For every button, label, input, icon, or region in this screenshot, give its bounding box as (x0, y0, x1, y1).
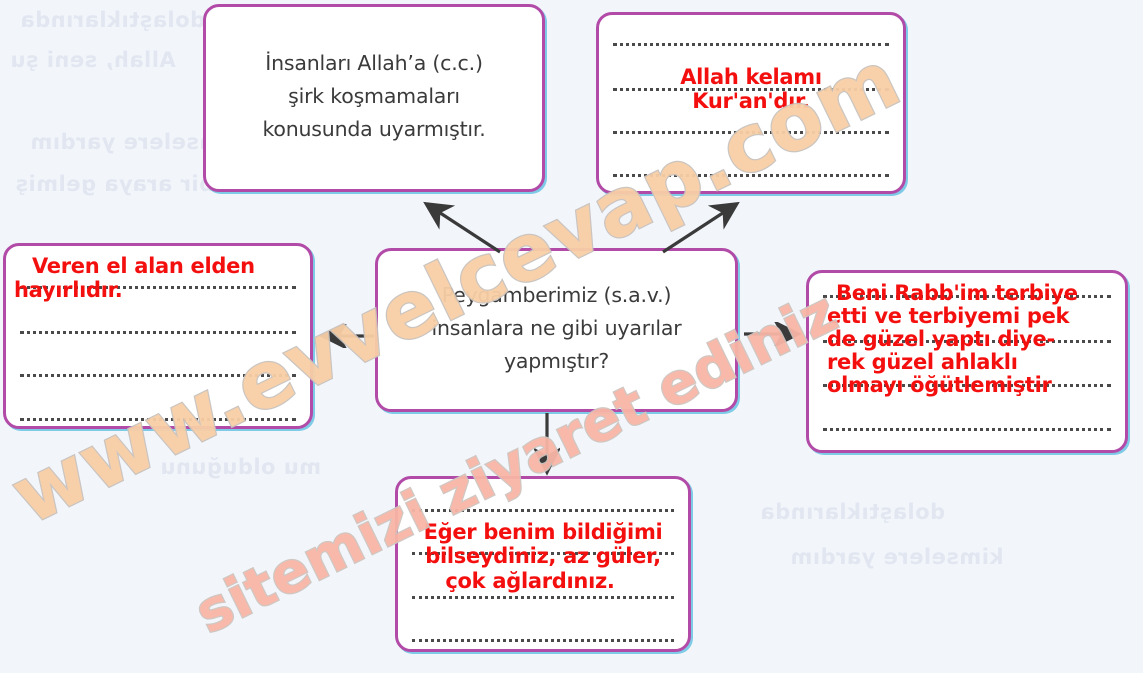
center-question-text: Peygamberimiz (s.a.v.) insanlara ne gibi… (378, 251, 735, 379)
writing-line (412, 596, 674, 599)
answer-box-top-right[interactable]: Allah kelamı Kur'an'dır. (596, 12, 906, 194)
question-line-1: Peygamberimiz (s.a.v.) (378, 279, 735, 312)
answer-line-4: rek güzel ahlaklı (827, 351, 1078, 374)
answer-line-1: Eğer benim bildiğimi (398, 520, 688, 544)
top-right-box-answer: Allah kelamı Kur'an'dır. (599, 65, 903, 114)
writing-line (20, 374, 296, 377)
question-line-2: insanlara ne gibi uyarılar (378, 312, 735, 345)
answer-box-left[interactable]: Veren el alan elden hayırlıdır. (3, 243, 313, 429)
answer-line-3: çok ağlardınız. (395, 569, 688, 593)
bottom-box-answer: Eğer benim bildiğimi bilseydiniz, az gül… (398, 520, 688, 593)
answer-line-1: Allah kelamı (599, 65, 903, 89)
writing-line (20, 331, 296, 334)
writing-line (823, 428, 1111, 431)
writing-line (412, 509, 674, 512)
bleed-text: mu olduğunu (160, 455, 321, 479)
answer-box-top[interactable]: İnsanları Allah’a (c.c.) şirk koşmamalar… (203, 4, 545, 192)
answer-box-right[interactable]: Beni Rabb'im terbiye etti ve terbiyemi p… (806, 270, 1128, 453)
bleed-text: bir araya gelmiş (15, 172, 214, 196)
answer-line-5: olmayı öğütlemiştir (827, 374, 1078, 397)
bleed-text: dolaştıklarında (20, 8, 205, 32)
top-box-line-1: İnsanları Allah’a (c.c.) (206, 47, 542, 80)
writing-line (412, 639, 674, 642)
answer-line-2: bilseydiniz, az güler, (398, 544, 688, 568)
worksheet-page: dolaştıklarında Allah, seni şu kimselere… (0, 0, 1143, 673)
arrow-to-bottom-box (534, 410, 560, 482)
writing-line (613, 43, 889, 46)
writing-line (20, 418, 296, 421)
answer-line-2: Kur'an'dır. (599, 89, 903, 113)
writing-line (613, 174, 889, 177)
arrow-to-left-box (316, 324, 378, 348)
right-box-answer: Beni Rabb'im terbiye etti ve terbiyemi p… (809, 282, 1078, 397)
bleed-text: kimselere yardım (790, 545, 1003, 569)
top-box-text: İnsanları Allah’a (c.c.) şirk koşmamalar… (206, 7, 542, 147)
answer-line-3: de güzel yaptı diye- (827, 328, 1078, 351)
central-question-box[interactable]: Peygamberimiz (s.a.v.) insanlara ne gibi… (375, 248, 738, 412)
answer-box-bottom[interactable]: Eğer benim bildiğimi bilseydiniz, az gül… (395, 476, 691, 652)
arrow-to-right-box (740, 322, 806, 346)
left-box-answer: Veren el alan elden hayırlıdır. (6, 254, 255, 303)
writing-line (613, 131, 889, 134)
answer-line-1: Veren el alan elden (32, 254, 255, 278)
answer-line-2: etti ve terbiyemi pek (827, 305, 1078, 328)
answer-line-1: Beni Rabb'im terbiye (836, 282, 1078, 305)
question-line-3: yapmıştır? (378, 345, 735, 378)
answer-line-2: hayırlıdır. (14, 278, 255, 302)
top-box-line-3: konusunda uyarmıştır. (206, 113, 542, 146)
bleed-text: dolaştıklarında (760, 500, 945, 524)
bleed-text: Allah, seni şu (10, 48, 176, 72)
top-box-line-2: şirk koşmamaları (206, 80, 542, 113)
